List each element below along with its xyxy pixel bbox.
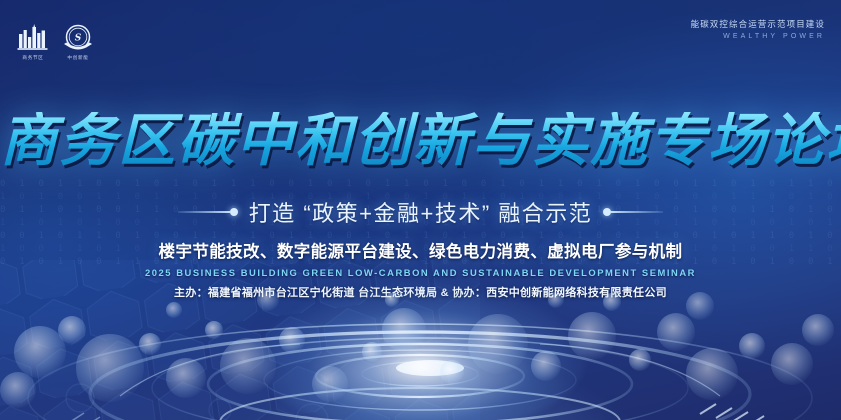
topics-line: 楼宇节能技改、数字能源平台建设、绿色电力消费、虚拟电厂参与机制 [0,238,841,262]
subtitle-row: 打造 “政策+金融+技术” 融合示范 [0,196,841,228]
city-skyline-logo-icon [16,24,50,52]
header-brand: 能碳双控综合运营示范项目建设 WEALTHY POWER [691,18,825,40]
bokeh-particle [205,321,223,339]
bokeh-particle [686,348,738,400]
bokeh-particle [312,366,348,402]
circular-emblem-logo-icon: S [62,24,94,52]
bokeh-particle [166,358,206,398]
bokeh-particle [629,349,651,371]
bokeh-particle [279,327,305,353]
logo-caption: 商务节区 [22,55,43,61]
organizers-line: 主办：福建省福州市台江区宁化街道 台江生态环境局 & 协办：西安中创新能网络科技… [0,284,841,300]
bokeh-particle [739,333,765,359]
ornament-right-icon [603,208,663,216]
bokeh-particle [139,333,161,355]
ornament-left-icon [178,208,238,216]
bokeh-particle [362,342,382,362]
subtitle: 打造 “政策+金融+技术” 融合示范 [249,196,593,228]
bokeh-particle [166,302,182,318]
bokeh-particle [531,351,561,381]
bokeh-particle [220,338,276,394]
brand-chinese-text: 能碳双控综合运营示范项目建设 [691,18,825,30]
bokeh-particle [657,313,695,351]
header-logos: 商务节区 S 中创新能 [16,24,94,61]
english-subtitle: 2025 BUSINESS BUILDING GREEN LOW-CARBON … [0,267,841,278]
logo-city-skyline: 商务节区 [16,24,50,61]
bokeh-particle [440,360,464,384]
svg-text:S: S [75,34,82,44]
bokeh-particle [568,312,616,360]
conference-poster-banner: 0 1 0 1 1 0 0 1 0 1 0 1 1 1 0 0 1 0 1 0 … [0,0,841,420]
bokeh-particle [58,316,86,344]
center-glow [256,284,586,420]
brand-english-text: WEALTHY POWER [691,33,825,40]
bokeh-particle [14,326,66,378]
bokeh-particle [771,343,813,385]
page-title: 商务区碳中和创新与实施专场论坛 [0,112,841,169]
bokeh-particle [468,314,528,374]
info-block: 楼宇节能技改、数字能源平台建设、绿色电力消费、虚拟电厂参与机制 2025 BUS… [0,238,841,300]
bokeh-particle [802,314,834,346]
bokeh-particle [382,308,426,352]
logo-circular-emblem: S 中创新能 [62,24,94,61]
logo-caption: 中创新能 [67,55,88,61]
bokeh-particle [0,372,36,408]
bokeh-particle [76,334,144,402]
main-title-area: 商务区碳中和创新与实施专场论坛 [0,112,841,169]
